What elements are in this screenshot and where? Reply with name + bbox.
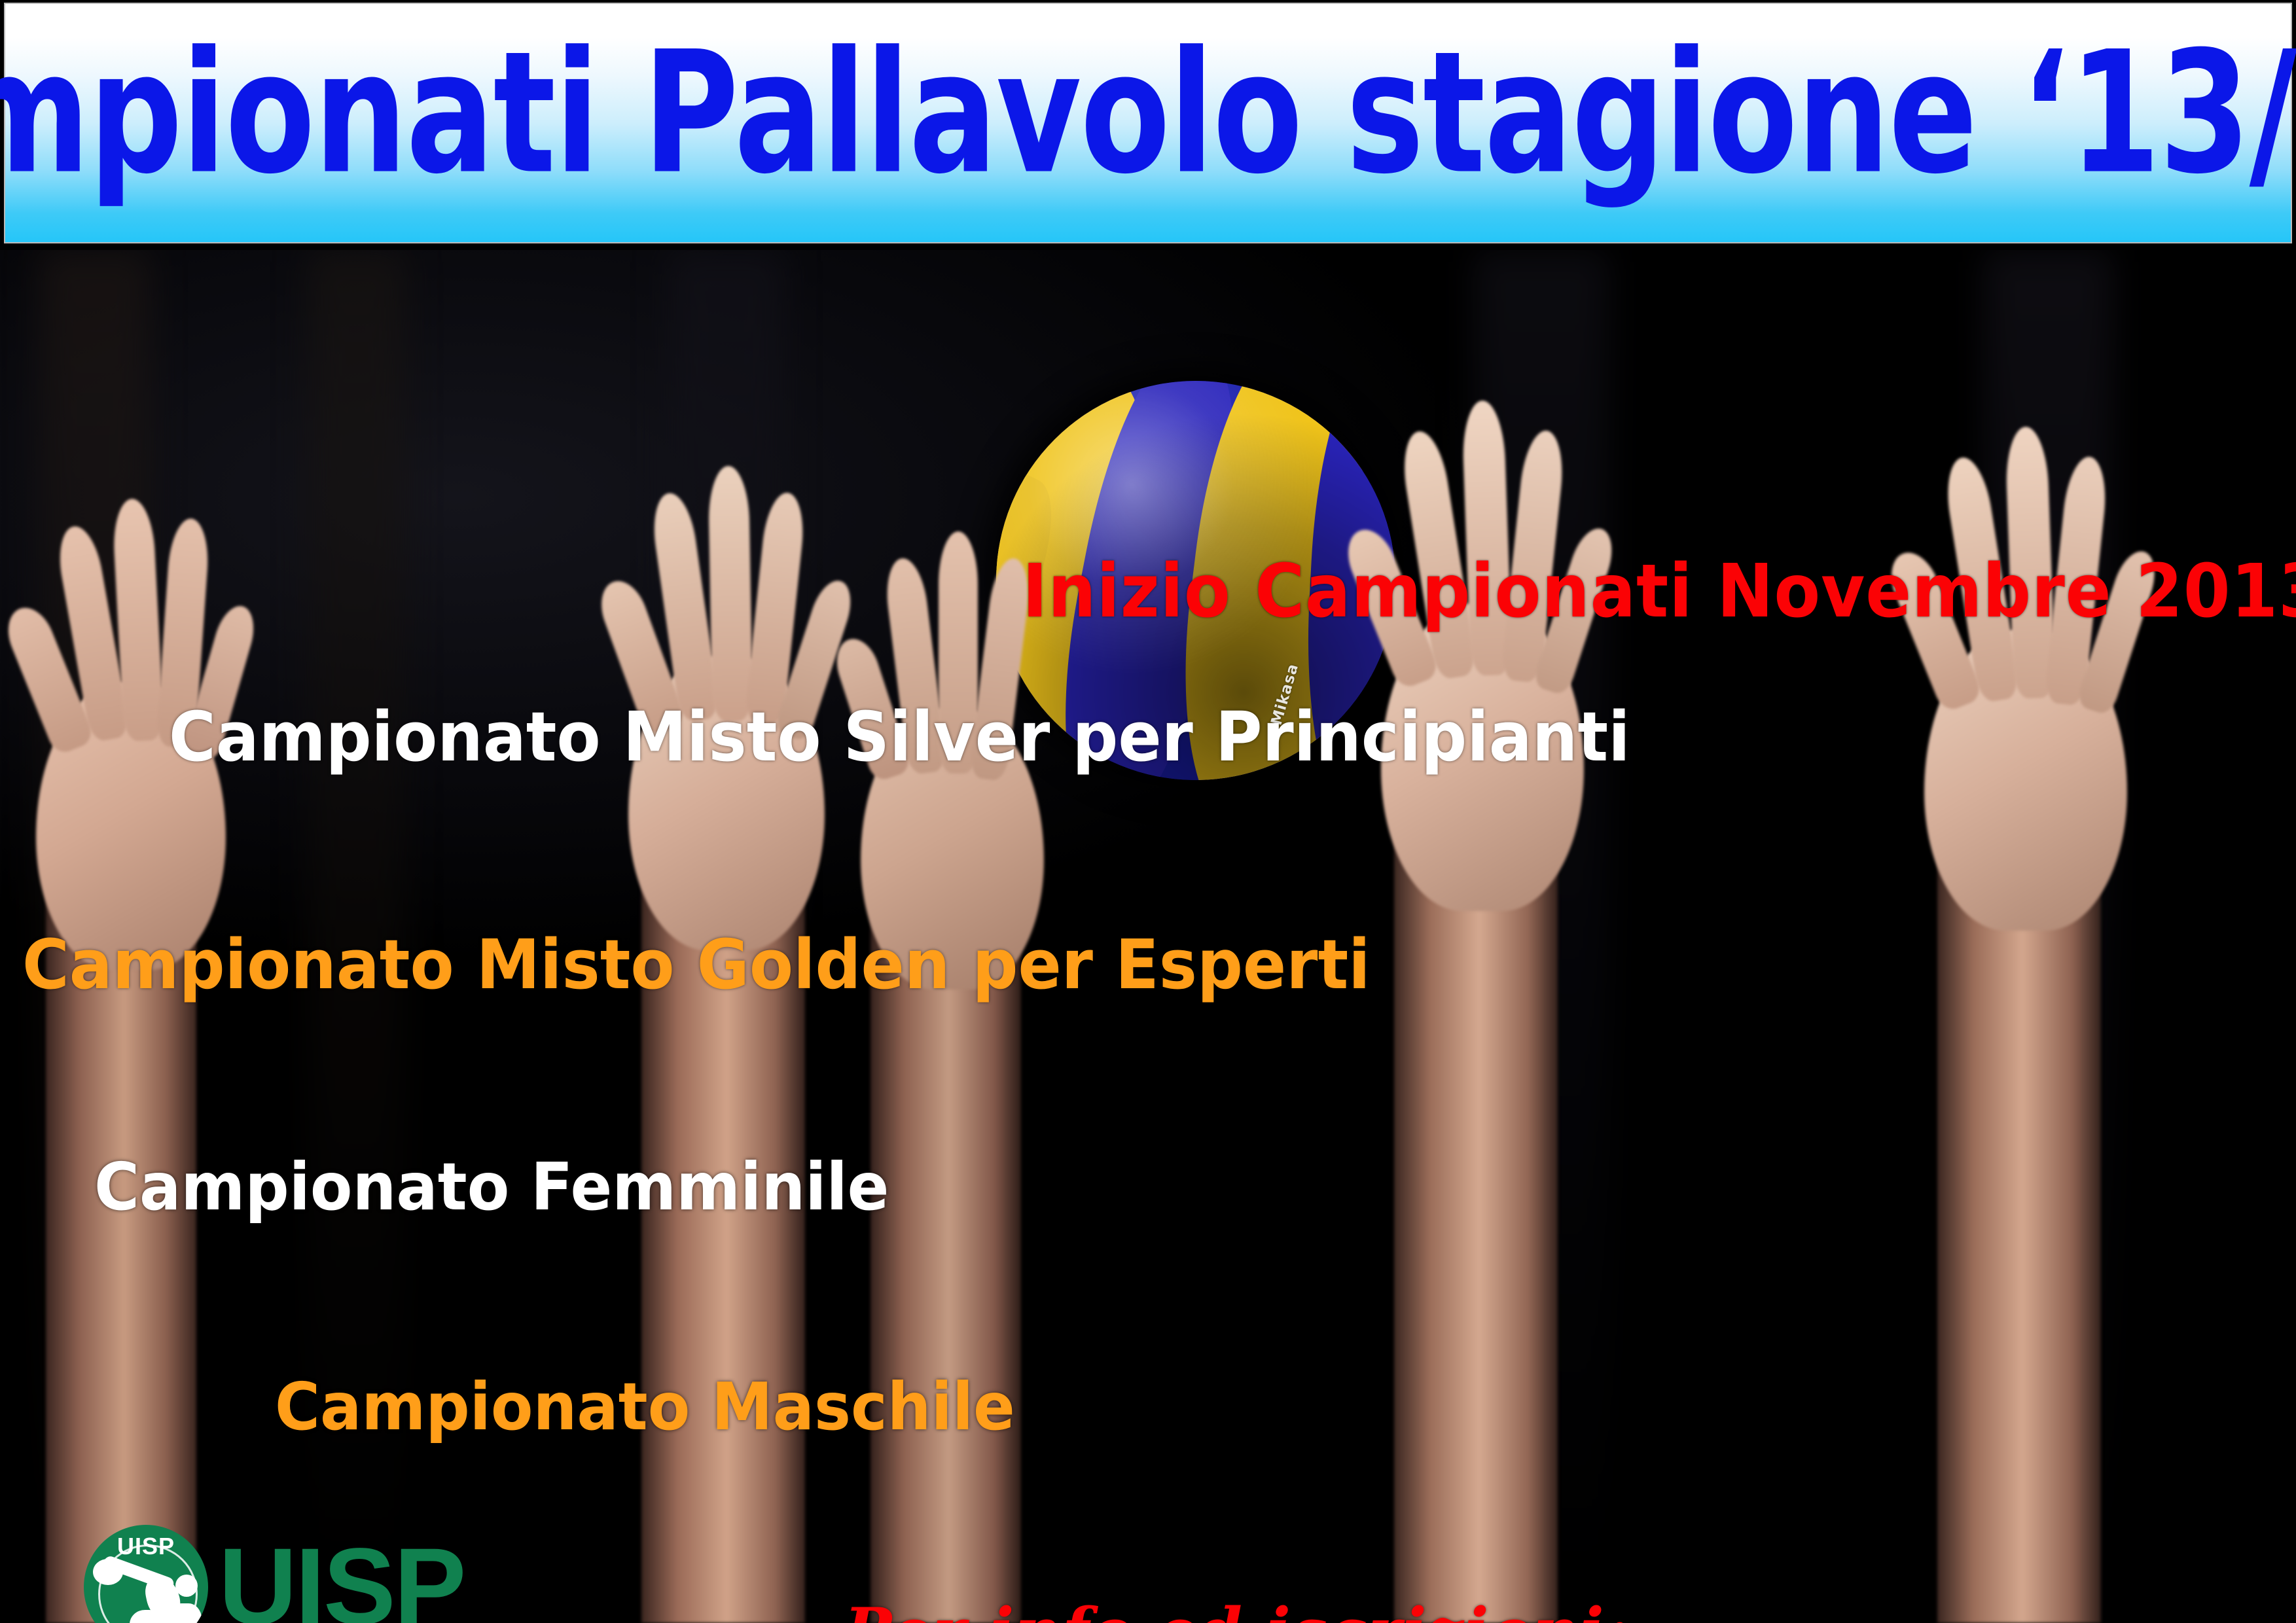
announcement-femminile: Campionato Femminile xyxy=(94,1154,889,1220)
emblem-athlete-head xyxy=(175,1575,198,1597)
title-banner: Campionati Pallavolo stagione ‘13/’14 xyxy=(4,3,2292,243)
contact-block: Per info ed iscrizioni: 0766.501940 civi… xyxy=(844,1592,2049,1623)
poster-canvas: Campionati Pallavolo stagione ‘13/’14 Mi… xyxy=(0,0,2296,1623)
finger xyxy=(708,465,753,721)
announcement-maschile: Campionato Maschile xyxy=(275,1374,1015,1440)
emblem-athlete-hand xyxy=(93,1559,123,1585)
contact-phone: Per info ed iscrizioni: 0766.501940 xyxy=(844,1592,2049,1623)
uisp-logo: UISP UISP sportpertutti Comitato di Civi… xyxy=(84,1525,555,1623)
announcement-silver: Campionato Misto Silver per Principianti xyxy=(169,703,1630,771)
logo-top-row: UISP UISP xyxy=(84,1525,555,1623)
announcement-inizio: Inizio Campionati Novembre 2013 xyxy=(1022,555,2296,628)
uisp-wordmark: UISP xyxy=(219,1541,464,1623)
announcement-golden: Campionato Misto Golden per Esperti xyxy=(22,931,1371,999)
background-photo: Mikasa xyxy=(0,250,2296,1623)
uisp-emblem-icon: UISP xyxy=(84,1525,208,1623)
page-title: Campionati Pallavolo stagione ‘13/’14 xyxy=(188,0,2108,252)
